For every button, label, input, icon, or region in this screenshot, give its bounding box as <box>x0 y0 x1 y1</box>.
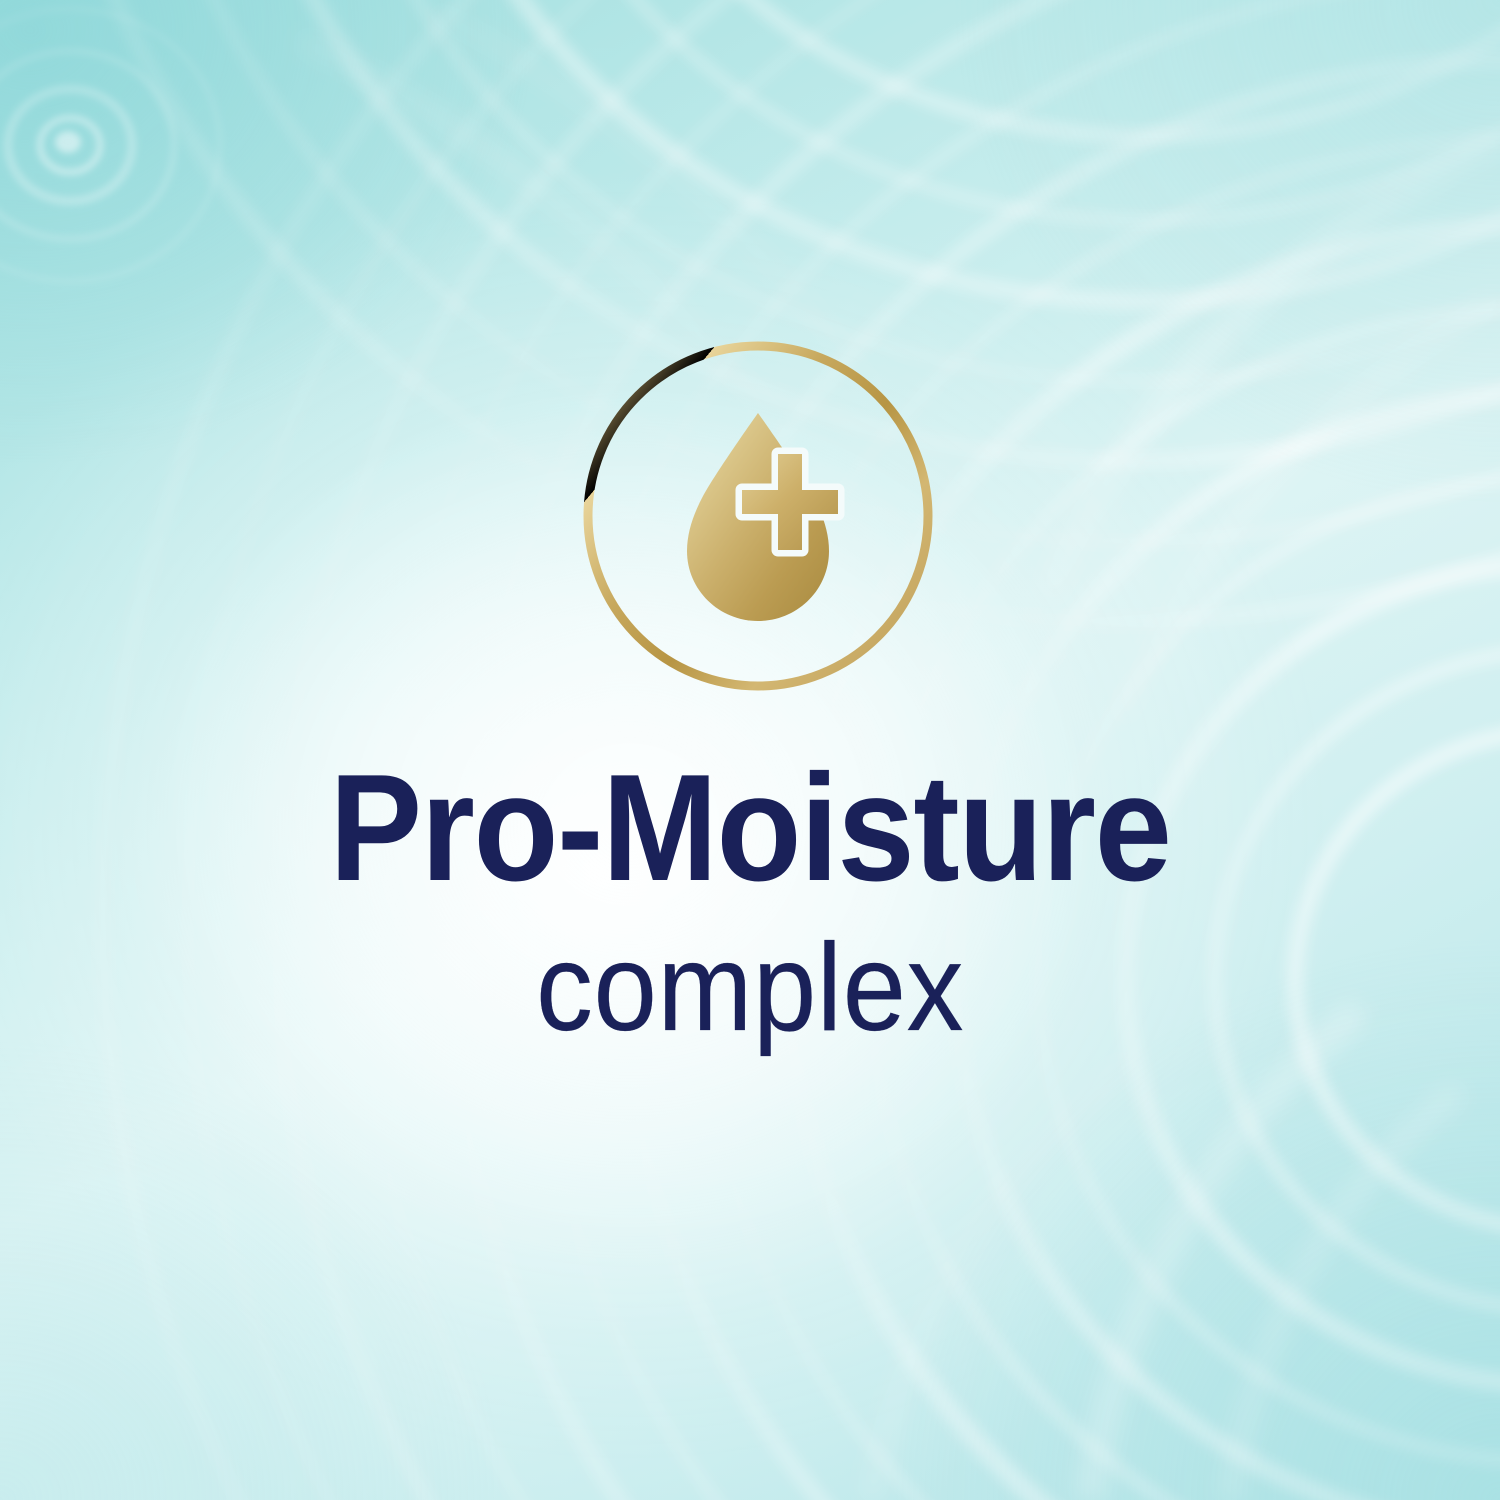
headline-block: Pro-Moisture complex <box>0 752 1500 1050</box>
droplet-impact-highlight <box>55 131 81 153</box>
pro-moisture-emblem <box>583 341 933 691</box>
page-title: Pro-Moisture <box>64 752 1437 904</box>
page-subtitle: complex <box>60 926 1440 1050</box>
promo-card: Pro-Moisture complex <box>0 0 1500 1500</box>
droplet-impact-rings <box>0 9 220 281</box>
emblem-svg <box>583 341 933 691</box>
